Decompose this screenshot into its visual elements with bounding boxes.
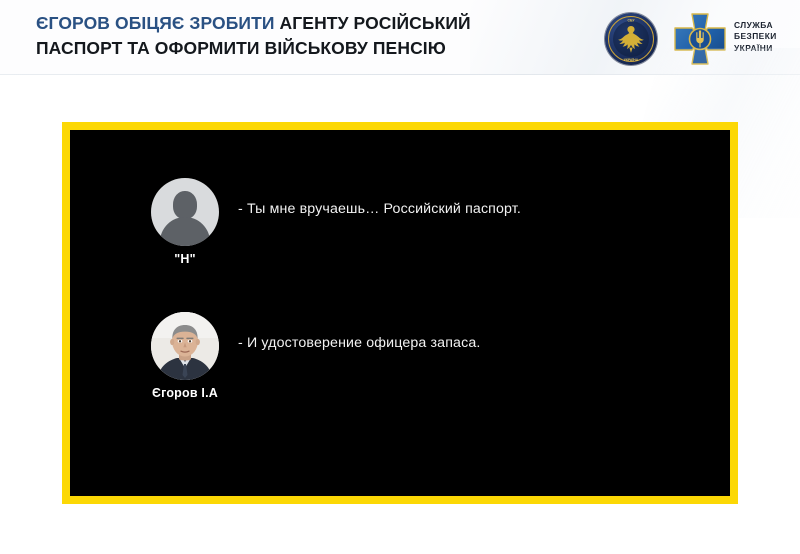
quote-panel: "Н" - Ты мне вручаешь… Российский паспор… (62, 122, 738, 504)
silhouette-body-icon (160, 217, 210, 246)
headline-rest: АГЕНТУ РОСІЙСЬКИЙ (275, 13, 471, 33)
portrait-photo-icon (151, 312, 219, 380)
gold-eagle-roundel-icon: СБУ УКРАЇНА (605, 13, 657, 65)
sbu-caption-line-2: БЕЗПЕКИ (734, 31, 777, 42)
speaker-block-1: "Н" (130, 178, 240, 266)
speaker-name-1: "Н" (130, 252, 240, 266)
headline-line-2: ПАСПОРТ ТА ОФОРМИТИ ВІЙСЬКОВУ ПЕНСІЮ (36, 36, 596, 61)
speaker-name-2: Єгоров І.А (130, 386, 240, 400)
dialogue-text-2: - И удостоверение офицера запаса. (238, 334, 708, 353)
silhouette-head-icon (173, 191, 197, 219)
dialogue-text-1: - Ты мне вручаешь… Российский паспорт. (238, 200, 708, 219)
svg-text:СБУ: СБУ (628, 18, 636, 22)
eagle-glyph-icon: СБУ УКРАЇНА (605, 13, 657, 65)
sbu-caption: СЛУЖБА БЕЗПЕКИ УКРАЇНИ (734, 20, 777, 54)
sbu-cross-glyph-icon (672, 11, 728, 67)
header-bar: ЄГОРОВ ОБІЦЯЄ ЗРОБИТИ АГЕНТУ РОСІЙСЬКИЙ … (0, 0, 800, 75)
quote-panel-inner: "Н" - Ты мне вручаешь… Российский паспор… (70, 130, 730, 496)
page-title: ЄГОРОВ ОБІЦЯЄ ЗРОБИТИ АГЕНТУ РОСІЙСЬКИЙ … (36, 11, 596, 61)
sbu-caption-line-3: УКРАЇНИ (734, 43, 777, 54)
placeholder-silhouette-avatar (151, 178, 219, 246)
svg-text:УКРАЇНА: УКРАЇНА (624, 58, 639, 62)
headline-highlight: ЄГОРОВ ОБІЦЯЄ ЗРОБИТИ (36, 13, 275, 33)
sbu-caption-line-1: СЛУЖБА (734, 20, 777, 31)
sbu-cross-trident-icon (672, 11, 728, 67)
photo-avatar-man (151, 312, 219, 380)
header-divider (0, 74, 800, 75)
headline-line-1: ЄГОРОВ ОБІЦЯЄ ЗРОБИТИ АГЕНТУ РОСІЙСЬКИЙ (36, 11, 596, 36)
slide-root: ЄГОРОВ ОБІЦЯЄ ЗРОБИТИ АГЕНТУ РОСІЙСЬКИЙ … (0, 0, 800, 554)
speaker-block-2: Єгоров І.А (130, 312, 240, 400)
